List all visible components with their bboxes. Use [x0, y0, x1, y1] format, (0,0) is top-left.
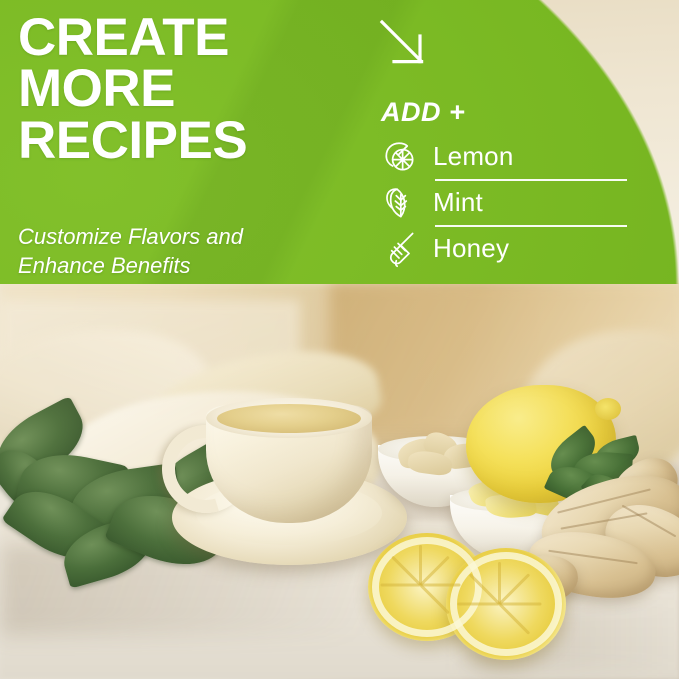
mint-leaf-icon	[377, 180, 421, 224]
subtitle-line-2: Enhance Benefits	[18, 251, 338, 280]
honey-dipper-icon	[377, 226, 421, 270]
lemon-segment	[421, 584, 461, 587]
arrow-down-right-icon	[378, 18, 432, 72]
headline-line-2: MORE	[18, 63, 318, 114]
poster-root: CREATE MORE RECIPES Customize Flavors an…	[0, 0, 679, 679]
lemon-segment	[458, 603, 500, 606]
add-section-title: ADD +	[381, 97, 465, 128]
add-item-label: Mint	[421, 187, 483, 218]
add-item-lemon[interactable]: Lemon	[379, 133, 641, 179]
add-item-mint[interactable]: Mint	[379, 179, 641, 225]
lemon-segment	[381, 584, 421, 587]
green-banner: CREATE MORE RECIPES Customize Flavors an…	[0, 0, 679, 284]
lemon-stem-nub	[595, 398, 621, 420]
page-title: CREATE MORE RECIPES	[18, 12, 318, 166]
list-divider	[435, 179, 627, 181]
lemon-wedge-icon	[377, 134, 421, 178]
headline-line-3: RECIPES	[18, 115, 318, 166]
lemon-segment	[500, 603, 542, 606]
add-ingredient-list: Lemon Mint	[379, 133, 641, 271]
lemon-segment	[419, 545, 422, 585]
lemon-segment	[498, 562, 501, 604]
add-item-label: Lemon	[421, 141, 514, 172]
add-item-honey[interactable]: Honey	[379, 225, 641, 271]
headline-line-1: CREATE	[18, 12, 318, 63]
add-item-label: Honey	[421, 233, 509, 264]
list-divider	[435, 225, 627, 227]
tea-liquid	[217, 404, 361, 433]
page-subtitle: Customize Flavors and Enhance Benefits	[18, 222, 338, 281]
subtitle-line-1: Customize Flavors and	[18, 222, 338, 251]
